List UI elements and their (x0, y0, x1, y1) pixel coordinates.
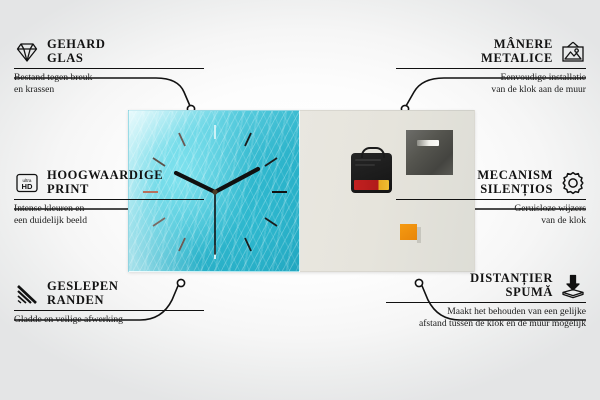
feature-underline (396, 199, 586, 200)
feature-mecanism-silentios: MECANISM SILENȚIOS Geruisloze wijzers va… (396, 169, 586, 226)
gear-icon (560, 170, 586, 196)
feature-desc-line1: Geruisloze wijzers (396, 203, 586, 214)
feature-heading: MÂNERE METALICE (396, 38, 586, 65)
feature-underline (386, 302, 586, 303)
feature-heading: GESLEPEN RANDEN (14, 280, 204, 307)
feature-title-line2: GLAS (47, 52, 105, 66)
ultra-hd-icon: ultra HD (14, 170, 40, 196)
feature-desc-line2: van de klok aan de muur (396, 84, 586, 95)
svg-text:HD: HD (22, 182, 33, 191)
feature-heading: GEHARD GLAS (14, 38, 204, 65)
clock-center-cap (212, 189, 217, 194)
picture-frame-icon (560, 39, 586, 65)
feature-underline (396, 68, 586, 69)
clock-face (128, 110, 300, 272)
feature-title-line1: MECANISM (477, 169, 553, 183)
feature-title-line1: DISTANȚIER (470, 272, 553, 286)
feature-title-line1: MÂNERE (481, 38, 553, 52)
feature-underline (14, 310, 204, 311)
feature-desc-line1: Gladde en veilige afwerking (14, 314, 204, 325)
foam-spacer (400, 224, 417, 240)
bevelled-edge-icon (14, 281, 40, 307)
feature-heading: MECANISM SILENȚIOS (396, 169, 586, 196)
feature-underline (14, 68, 204, 69)
feature-desc-line2: afstand tussen de klok en de muur mogeli… (386, 318, 586, 329)
feature-manere-metalice: MÂNERE METALICE Eenvoudige installatie v… (396, 38, 586, 95)
clock-dial (129, 111, 301, 272)
feature-geslepen-randen: GESLEPEN RANDEN Gladde en veilige afwerk… (14, 280, 204, 326)
feature-desc-line2: en krassen (14, 84, 204, 95)
clock-mechanism (351, 153, 392, 193)
diamond-icon (14, 39, 40, 65)
feature-title-line2: SILENȚIOS (477, 183, 553, 197)
feature-desc-line1: Maakt het behouden van een gelijke (386, 306, 586, 317)
feature-title-line2: SPUMĂ (470, 286, 553, 300)
feature-distantier-spuma: DISTANȚIER SPUMĂ Maakt het behouden van … (386, 272, 586, 329)
clock-minute-hand (215, 169, 258, 192)
infographic-canvas: GEHARD GLAS Bestand tegen breuk en krass… (0, 0, 600, 400)
feature-title-line2: METALICE (481, 52, 553, 66)
feature-desc-line2: van de klok (396, 215, 586, 226)
feature-desc-line1: Eenvoudige installatie (396, 72, 586, 83)
clock-hour-hand (176, 173, 215, 192)
feature-gehard-glas: GEHARD GLAS Bestand tegen breuk en krass… (14, 38, 204, 95)
feature-heading: DISTANȚIER SPUMĂ (386, 272, 586, 299)
battery (354, 180, 389, 190)
feature-title-line2: RANDEN (47, 294, 119, 308)
feature-desc-line1: Bestand tegen breuk (14, 72, 204, 83)
feature-title-line1: GEHARD (47, 38, 105, 52)
arrow-onto-pad-icon (560, 273, 586, 299)
feature-title-line1: GESLEPEN (47, 280, 119, 294)
